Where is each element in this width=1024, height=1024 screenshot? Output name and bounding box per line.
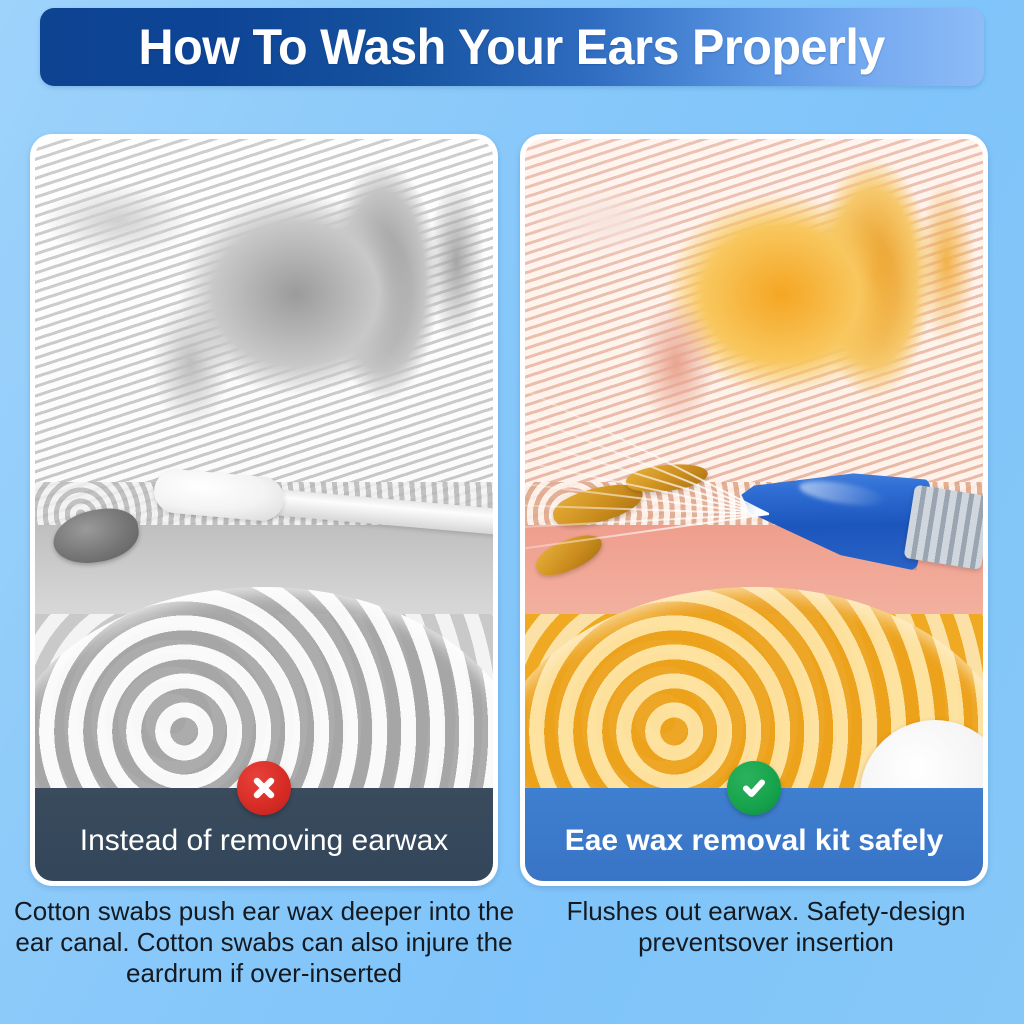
panel-correct-inner: Eae wax removal kit safely [525, 139, 983, 881]
nozzle-highlight [798, 477, 889, 511]
caption-text-incorrect: Instead of removing earwax [66, 824, 463, 857]
check-icon [727, 761, 781, 815]
body-text-incorrect: Cotton swabs push ear wax deeper into th… [12, 896, 516, 990]
panel-incorrect: Instead of removing earwax [30, 134, 498, 886]
panel-incorrect-inner: Instead of removing earwax [35, 139, 493, 881]
page-title: How To Wash Your Ears Properly [139, 18, 885, 76]
nozzle-collar [904, 485, 983, 570]
body-text-correct: Flushes out earwax. Safety-design preven… [516, 896, 1016, 958]
title-banner: How To Wash Your Ears Properly [40, 8, 984, 86]
cross-icon [237, 761, 291, 815]
caption-text-correct: Eae wax removal kit safely [551, 824, 958, 857]
panel-correct: Eae wax removal kit safely [520, 134, 988, 886]
